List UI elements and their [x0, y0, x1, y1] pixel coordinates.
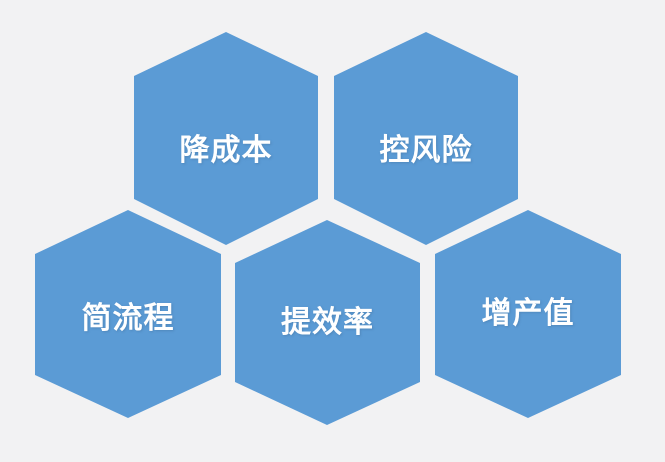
hexagon-label-reduce-cost: 降成本 — [180, 136, 273, 166]
hexagon-improve-efficiency[interactable]: 提效率 — [235, 220, 420, 425]
hexagon-label-control-risk: 控风险 — [380, 136, 473, 166]
hexagon-increase-output-value[interactable]: 增产值 — [435, 210, 621, 418]
diagram-canvas: 降成本 控风险 简流程 提效率 增产值 — [0, 0, 665, 462]
hexagon-label-simplify-process: 简流程 — [82, 304, 175, 334]
hexagon-simplify-process[interactable]: 简流程 — [35, 210, 221, 418]
hexagon-label-improve-efficiency: 提效率 — [281, 308, 374, 338]
hexagon-label-increase-output-value: 增产值 — [482, 299, 575, 329]
